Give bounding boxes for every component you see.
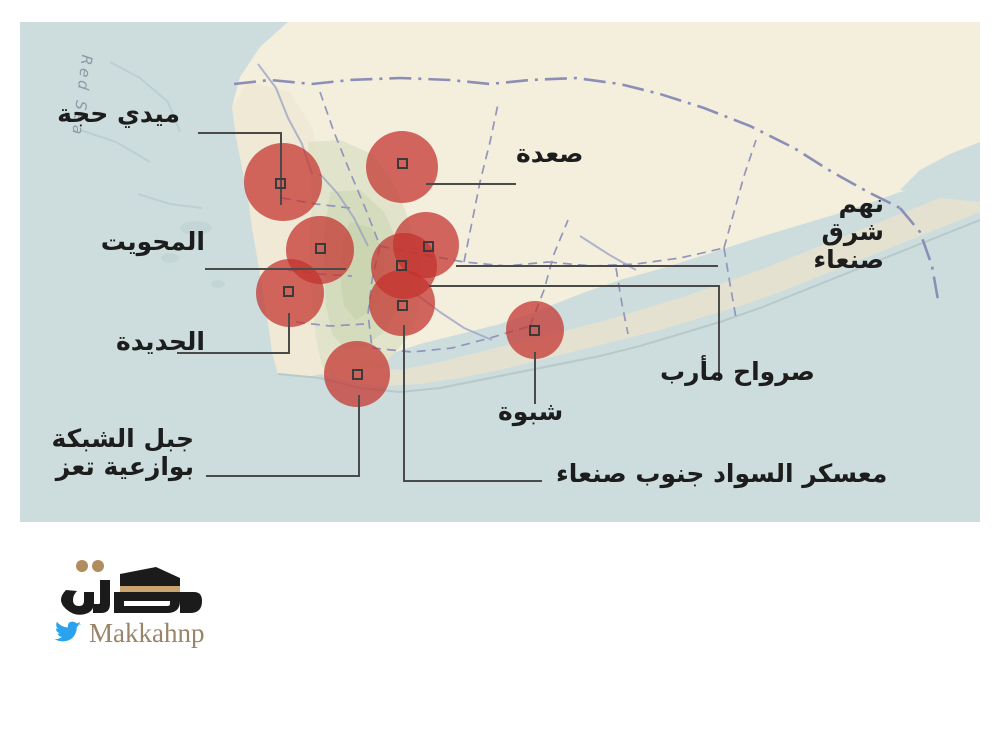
label-jabal-al-shabaka: جبل الشبكة بوازعية تعز: [24, 425, 194, 481]
leader-line-al-mahwit: [205, 268, 346, 270]
leader-line-al-hudaydah-v: [288, 313, 290, 354]
label-al-hudaydah: الحديدة: [85, 328, 205, 355]
strike-marker-sirwah-marib[interactable]: [396, 260, 407, 271]
label-nihm-line-2: شرق: [806, 218, 884, 246]
strike-marker-nihm-east-sanaa[interactable]: [423, 241, 434, 252]
label-jabal-line-1: جبل الشبكة: [24, 425, 194, 453]
strike-marker-saada[interactable]: [397, 158, 408, 169]
strike-marker-jabal-al-shabaka[interactable]: [352, 369, 363, 380]
label-jabal-line-2: بوازعية تعز: [24, 453, 194, 481]
brand-logo: Makkahnp: [30, 556, 250, 661]
label-nihm-line-3: صنعاء: [806, 246, 884, 274]
strike-marker-midi-hajjah[interactable]: [275, 178, 286, 189]
strike-marker-shabwa[interactable]: [529, 325, 540, 336]
leader-line-jabal-v: [358, 395, 360, 477]
label-midi-hajjah: ميدي حجة: [30, 100, 180, 127]
label-shabwa: شبوة: [498, 398, 563, 425]
leader-line-jabal-h: [206, 475, 360, 477]
label-sirwah-marib: صرواح مأرب: [660, 358, 815, 385]
strike-marker-al-hudaydah[interactable]: [283, 286, 294, 297]
leader-line-al-sawad-h: [403, 480, 542, 482]
strike-marker-al-mahwit[interactable]: [315, 243, 326, 254]
leader-line-al-sawad-v: [403, 325, 405, 482]
label-nihm-line-1: نهم: [806, 190, 884, 218]
leader-line-midi-hajjah-h: [198, 132, 282, 134]
label-nihm-east-sanaa: نهم شرق صنعاء: [806, 190, 884, 274]
twitter-bird-icon: [52, 621, 82, 647]
leader-line-saada: [426, 183, 516, 185]
leader-line-sirwah-h: [429, 285, 720, 287]
twitter-handle-text: Makkahnp: [89, 618, 204, 649]
label-al-sawad-camp: معسكر السواد جنوب صنعاء: [556, 460, 887, 487]
strike-marker-al-sawad-camp[interactable]: [397, 300, 408, 311]
leader-line-midi-hajjah-v: [280, 132, 282, 205]
twitter-handle[interactable]: Makkahnp: [52, 618, 204, 649]
label-saada: صعدة: [516, 140, 583, 167]
leader-line-nihm-h: [456, 265, 718, 267]
makkah-logo-icon: [48, 556, 208, 618]
label-al-mahwit: المحويت: [70, 228, 205, 255]
